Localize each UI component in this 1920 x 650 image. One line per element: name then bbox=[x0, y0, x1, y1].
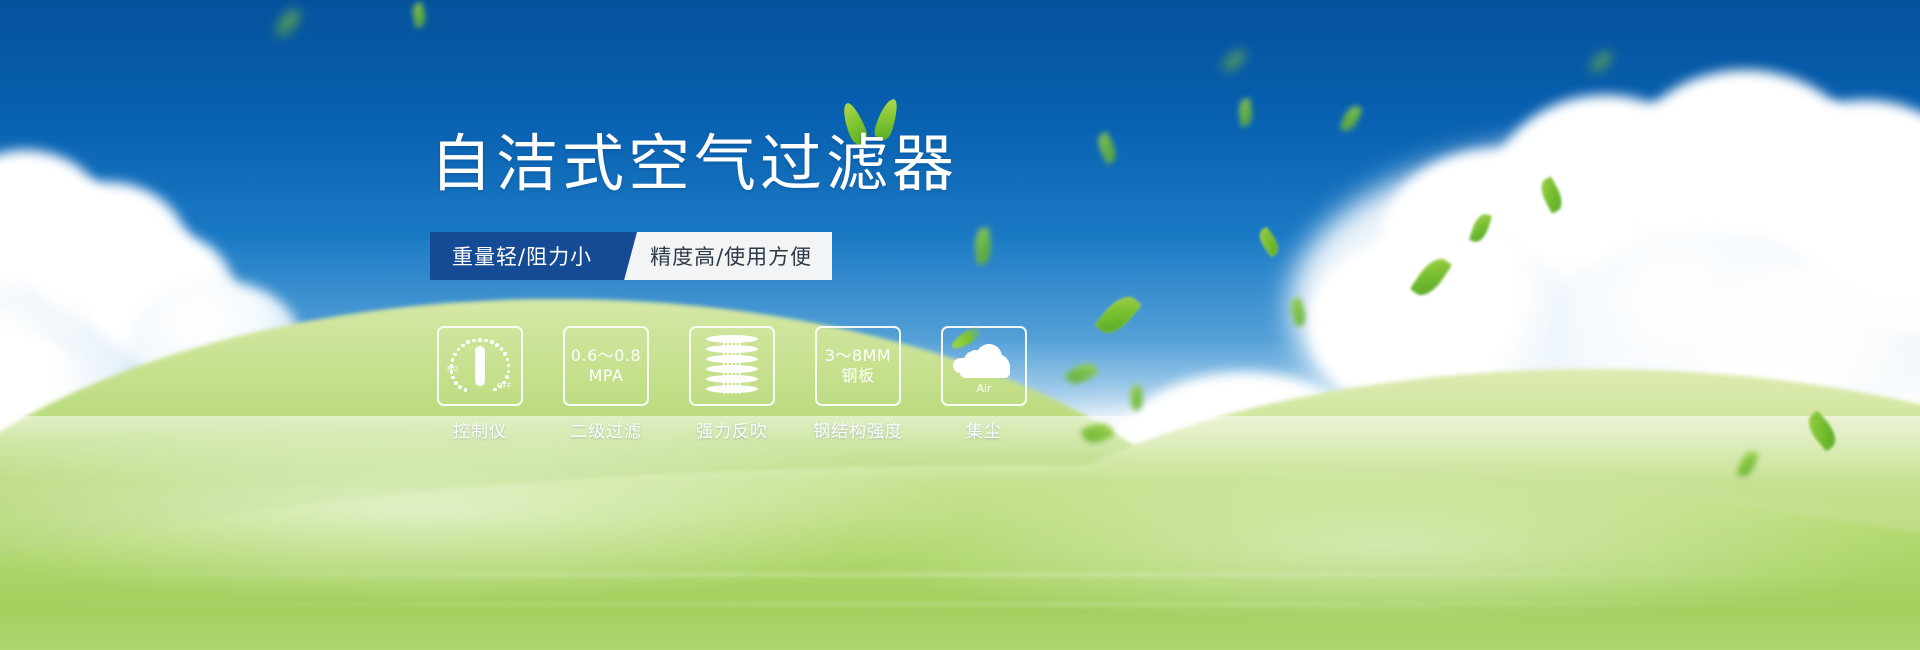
subtitle-banner: 重量轻/阻力小 精度高/使用方便 bbox=[430, 232, 832, 280]
subtitle-right: 精度高/使用方便 bbox=[646, 232, 832, 280]
feature-badge-pressure[interactable]: 0.6～0.8 MPA 二级过滤 bbox=[562, 326, 650, 442]
subtitle-divider-wedge bbox=[618, 232, 646, 280]
steel-value-line1: 3～8MM bbox=[825, 346, 891, 366]
feature-icon-box: NO OFF bbox=[437, 326, 523, 406]
dial-on-label: NO bbox=[447, 365, 459, 373]
feature-badge-backblow[interactable]: 强力反吹 bbox=[688, 326, 776, 442]
feature-icon-box bbox=[689, 326, 775, 406]
feature-label: 二级过滤 bbox=[570, 417, 642, 442]
dial-gauge-icon: NO OFF bbox=[449, 337, 511, 395]
feature-badge-dustcollect[interactable]: Air 集尘 bbox=[940, 326, 1028, 442]
subtitle-left: 重量轻/阻力小 bbox=[430, 232, 618, 280]
page-title: 自洁式空气过滤器 bbox=[430, 133, 958, 195]
feature-label: 控制仪 bbox=[453, 417, 507, 442]
steel-value-line2: 钢板 bbox=[825, 366, 891, 386]
feature-icon-box: 3～8MM 钢板 bbox=[815, 326, 901, 406]
hero-banner: 自洁式空气过滤器 重量轻/阻力小 精度高/使用方便 bbox=[0, 0, 1920, 650]
feature-label: 集尘 bbox=[966, 417, 1002, 442]
steel-plate-text-icon: 3～8MM 钢板 bbox=[825, 346, 891, 385]
feature-label: 强力反吹 bbox=[696, 417, 768, 442]
feature-icon-box: 0.6～0.8 MPA bbox=[563, 326, 649, 406]
coil-filter-icon bbox=[706, 335, 758, 397]
feature-badge-list: NO OFF 控制仪 0.6～0.8 MPA 二级过滤 bbox=[436, 326, 1028, 442]
pressure-value-line1: 0.6～0.8 bbox=[571, 346, 641, 366]
feature-label: 钢结构强度 bbox=[813, 417, 903, 442]
pressure-text-icon: 0.6～0.8 MPA bbox=[571, 346, 641, 385]
dial-pointer-icon bbox=[475, 346, 485, 386]
air-cloud-icon: Air bbox=[952, 338, 1016, 394]
air-label: Air bbox=[952, 382, 1016, 395]
dial-off-label: OFF bbox=[497, 382, 512, 390]
feature-icon-box: Air bbox=[941, 326, 1027, 406]
feature-badge-steel[interactable]: 3～8MM 钢板 钢结构强度 bbox=[814, 326, 902, 442]
pressure-value-line2: MPA bbox=[571, 366, 641, 386]
feature-badge-control[interactable]: NO OFF 控制仪 bbox=[436, 326, 524, 442]
banner-content: 自洁式空气过滤器 重量轻/阻力小 精度高/使用方便 bbox=[0, 0, 1920, 650]
